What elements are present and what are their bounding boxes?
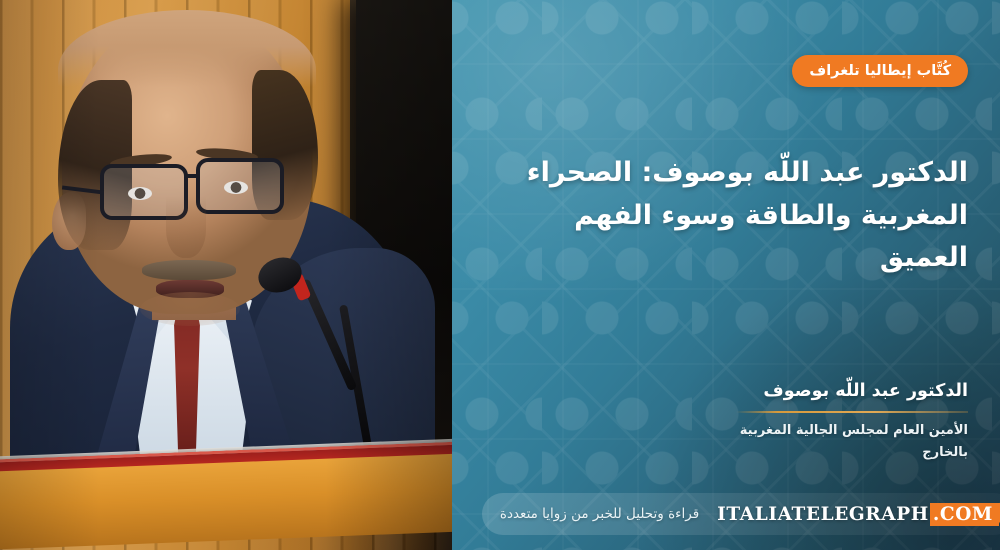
author-divider [736, 411, 968, 413]
author-block: الدكتور عبد اللّه بوصوف الأمين العام لمج… [728, 378, 968, 465]
footer-tagline: قراءة وتحليل للخبر من زوايا متعددة [500, 506, 699, 522]
category-badge[interactable]: كُتَّاب إيطاليا تلغراف [792, 55, 968, 87]
author-name: الدكتور عبد اللّه بوصوف [728, 378, 968, 404]
content-panel: كُتَّاب إيطاليا تلغراف الدكتور عبد اللّه… [452, 0, 1000, 550]
footer-bar: قراءة وتحليل للخبر من زوايا متعددة ITALI… [482, 493, 1000, 535]
photo-shading-overlay [0, 0, 452, 550]
site-logo-name: ITALIATELEGRAPH [717, 504, 929, 525]
speaker-photo [0, 0, 452, 550]
site-logo-tld: .COM [930, 503, 999, 526]
site-logo[interactable]: ITALIATELEGRAPH .COM [717, 503, 999, 526]
article-title: الدكتور عبد اللّه بوصوف: الصحراء المغربي… [496, 152, 968, 280]
news-card: كُتَّاب إيطاليا تلغراف الدكتور عبد اللّه… [0, 0, 1000, 550]
category-badge-label: كُتَّاب إيطاليا تلغراف [809, 64, 951, 79]
author-role: الأمين العام لمجلس الجالية المغربية بالخ… [728, 420, 968, 465]
